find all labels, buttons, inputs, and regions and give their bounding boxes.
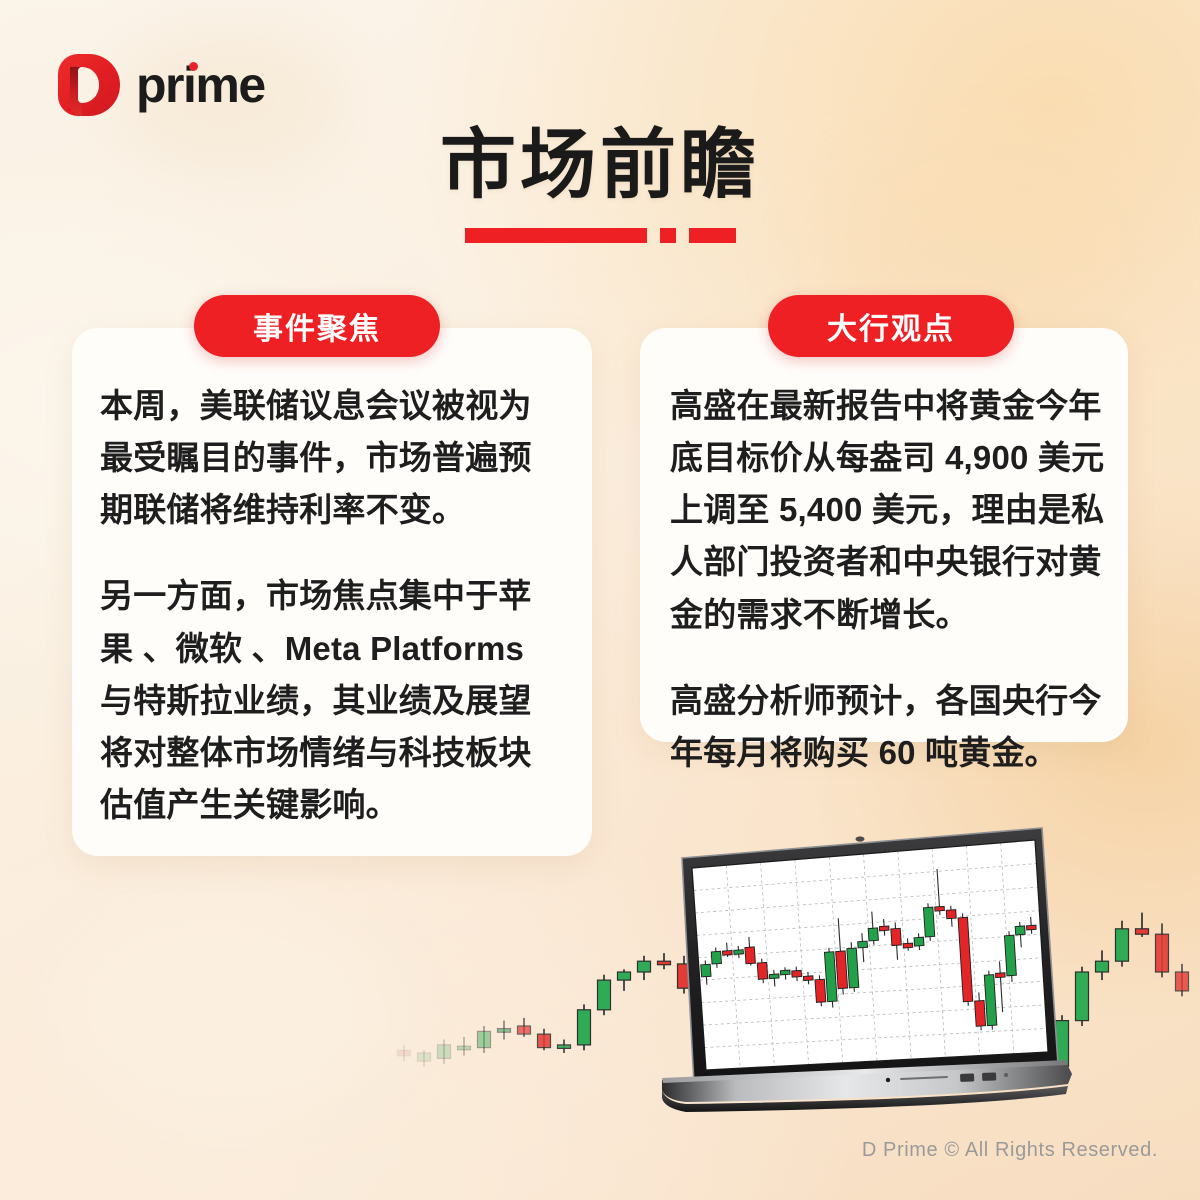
candle-body <box>757 962 768 979</box>
candle-body <box>836 951 848 989</box>
divider-bar-mid <box>689 228 736 243</box>
candle-body <box>558 1045 571 1049</box>
laptop-port-indicator <box>1004 1073 1008 1077</box>
candle-body <box>578 1010 591 1045</box>
candle-body <box>745 947 756 964</box>
card-bank-views-paragraph-2: 高盛分析师预计，各国央行今年每月将购买 60 吨黄金。 <box>670 675 1106 779</box>
brand-logo: prime <box>58 54 265 116</box>
candle-body <box>598 980 611 1010</box>
candle-body <box>879 926 889 931</box>
title-block: 市场前瞻 <box>0 126 1200 243</box>
candle-body <box>618 972 631 980</box>
candle-body <box>638 961 651 972</box>
candle-body <box>1176 972 1189 991</box>
card-bank-views: 大行观点 高盛在最新报告中将黄金今年底目标价从每盎司 4,900 美元上调至 5… <box>640 328 1128 742</box>
badge-event-focus: 事件聚焦 <box>194 295 440 357</box>
candle-body <box>769 974 779 979</box>
candle-body <box>803 976 813 981</box>
laptop-device <box>660 812 1080 1112</box>
candle-body <box>1136 929 1149 934</box>
card-bank-views-body: 高盛在最新报告中将黄金今年底目标价从每盎司 4,900 美元上调至 5,400 … <box>640 328 1128 779</box>
candle-body <box>518 1026 531 1034</box>
candle-body <box>711 951 721 964</box>
candle-body <box>858 941 868 948</box>
candle-body <box>1004 935 1016 976</box>
candle-body <box>847 948 859 988</box>
candle-body <box>1026 925 1036 930</box>
card-bank-views-paragraph-1: 高盛在最新报告中将黄金今年底目标价从每盎司 4,900 美元上调至 5,400 … <box>670 380 1106 641</box>
logo-wordmark-text: prime <box>136 57 265 113</box>
candle-body <box>418 1053 431 1061</box>
d-prime-logo-icon <box>58 54 120 116</box>
logo-wordmark: prime <box>136 60 265 110</box>
candle-body <box>1015 926 1025 935</box>
candle-body <box>780 970 790 975</box>
candle-body <box>458 1046 471 1050</box>
candle-body <box>868 928 878 941</box>
candle-body <box>903 943 913 948</box>
candle-body <box>1096 961 1109 972</box>
candle-body <box>1156 934 1169 972</box>
candle-body <box>498 1029 511 1033</box>
title-divider <box>0 228 1200 243</box>
laptop-port-usb <box>982 1072 996 1081</box>
poster-canvas: prime 市场前瞻 事件聚焦 本周，美联储议息会议被视为最受瞩目的事件，市场普… <box>0 0 1200 1200</box>
card-event-focus-body: 本周，美联储议息会议被视为最受瞩目的事件，市场普遍预期联储将维持利率不变。 另一… <box>72 328 592 831</box>
laptop-camera-icon <box>856 836 865 841</box>
badge-bank-views: 大行观点 <box>768 295 1014 357</box>
candle-body <box>734 950 744 955</box>
candle-body <box>996 973 1006 978</box>
candle-body <box>792 970 802 977</box>
candle-body <box>398 1050 411 1055</box>
laptop-port-usb <box>960 1073 974 1082</box>
candle-body <box>438 1045 451 1059</box>
candle-body <box>538 1034 551 1048</box>
candle-body <box>891 928 902 945</box>
candle-body <box>701 964 711 977</box>
candle-body <box>946 910 956 919</box>
page-title: 市场前瞻 <box>0 126 1200 206</box>
candle-body <box>722 950 732 955</box>
laptop-port-indicator <box>886 1078 890 1082</box>
card-event-focus-paragraph-1: 本周，美联储议息会议被视为最受瞩目的事件，市场普遍预期联储将维持利率不变。 <box>100 380 560 536</box>
candle-body <box>935 906 945 911</box>
candle-body <box>815 979 826 1002</box>
card-event-focus: 事件聚焦 本周，美联储议息会议被视为最受瞩目的事件，市场普遍预期联储将维持利率不… <box>72 328 592 856</box>
divider-bar-dot <box>660 228 676 243</box>
candle-body <box>914 937 924 946</box>
footer-copyright: D Prime © All Rights Reserved. <box>862 1139 1158 1162</box>
divider-bar-long <box>465 228 647 243</box>
candle-body <box>975 1001 986 1027</box>
candle-body <box>1116 929 1129 961</box>
candle-body <box>923 907 934 937</box>
logo-i-dot-icon <box>189 62 198 71</box>
candle-body <box>478 1031 491 1047</box>
